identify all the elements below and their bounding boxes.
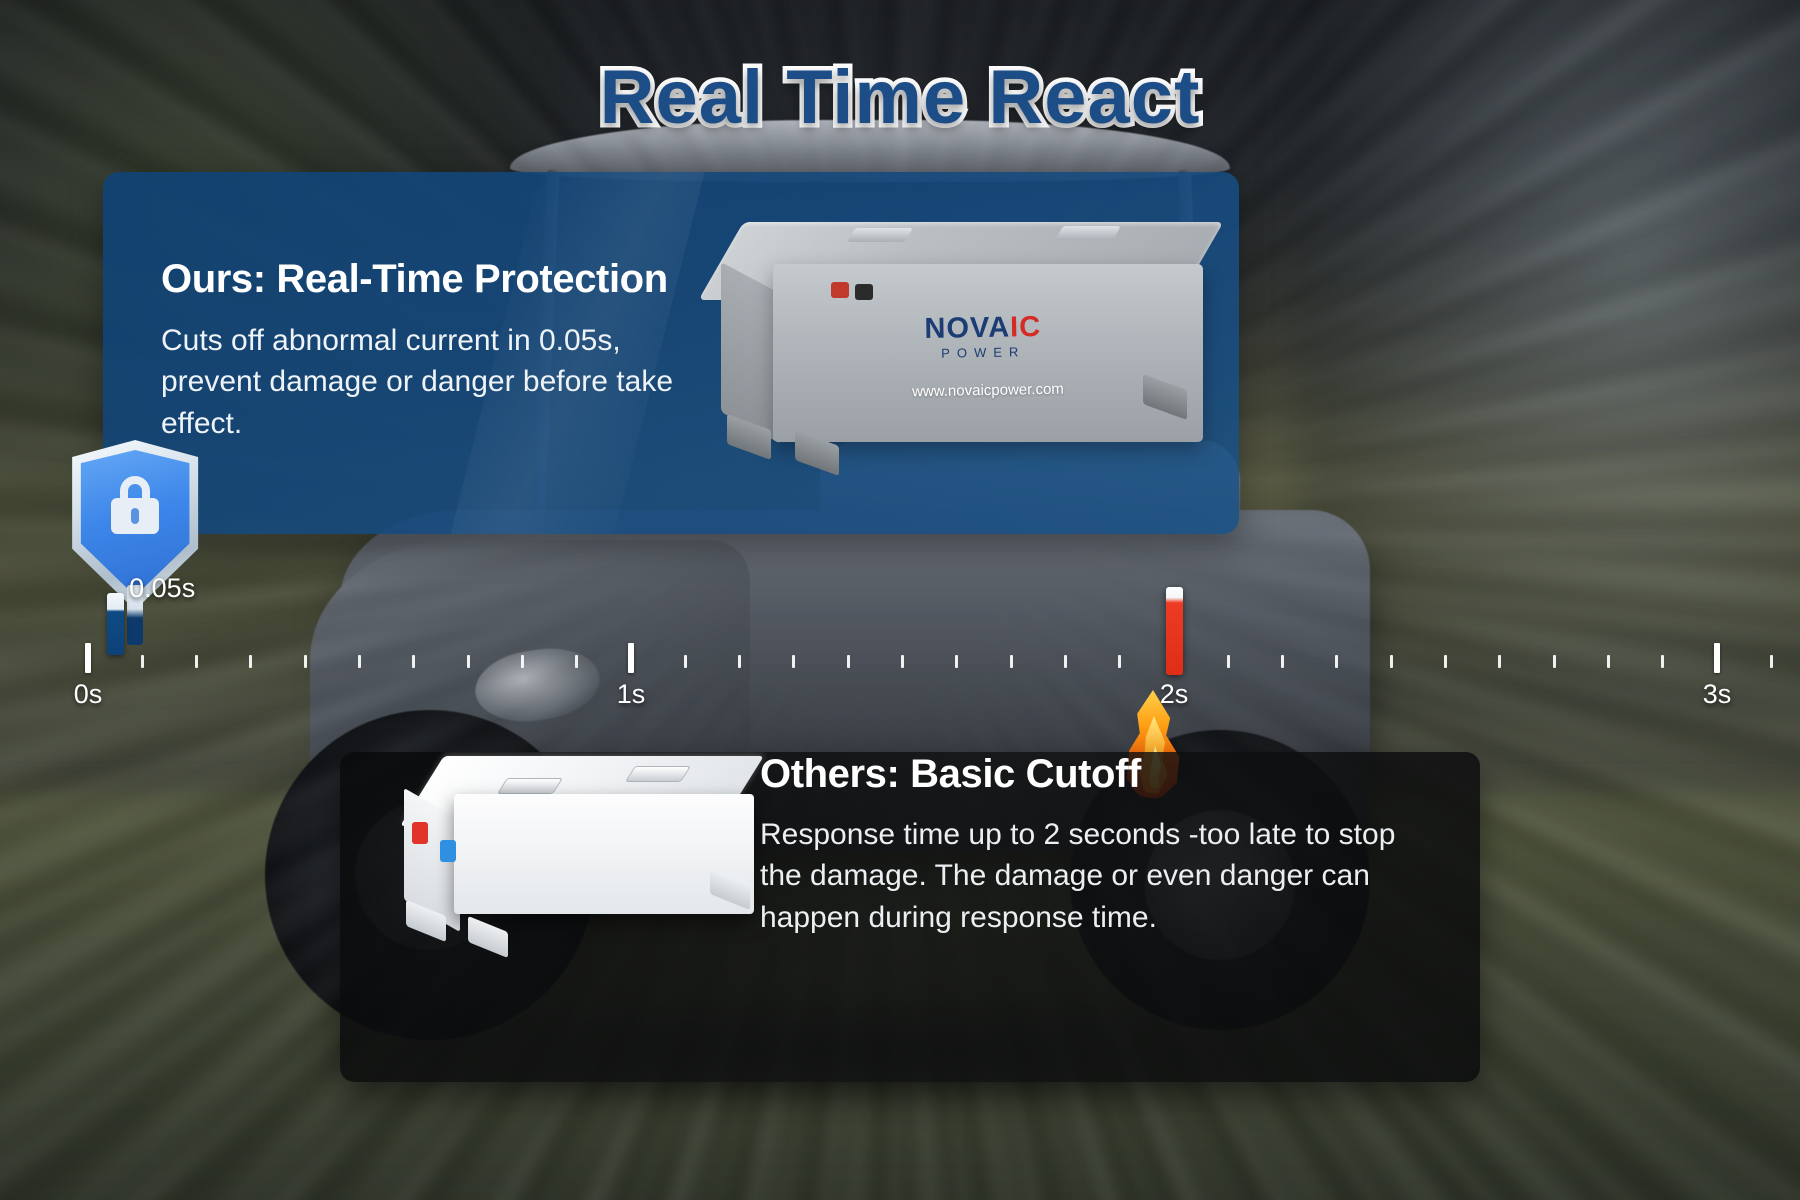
tick-minor	[738, 655, 741, 668]
tick-minor	[304, 655, 307, 668]
panel-bottom-heading: Others: Basic Cutoff	[760, 752, 1141, 797]
tick-minor	[1770, 655, 1773, 668]
tick-minor	[1227, 655, 1230, 668]
panel-top-body: Cuts off abnormal current in 0.05s, prev…	[161, 320, 701, 444]
logo-brand-accent: IC	[1010, 311, 1042, 344]
battery-positive-terminal	[831, 282, 849, 298]
panel-top-heading: Ours: Real-Time Protection	[161, 257, 668, 302]
tick-minor	[358, 655, 361, 668]
tick-minor	[521, 655, 524, 668]
tick-minor	[792, 655, 795, 668]
tick-label-0s: 0s	[74, 679, 103, 710]
competitor-battery-handle-left	[497, 778, 563, 794]
tick-minor	[1607, 655, 1610, 668]
tick-minor	[1335, 655, 1338, 668]
tick-label-1s: 1s	[617, 679, 646, 710]
novaic-battery-image: NOVAIC POWER www.novaicpower.com	[703, 222, 1223, 497]
timeline-ruler: 0.05s 0s1s2s3s	[0, 655, 1800, 675]
tick-major	[628, 643, 634, 673]
tick-minor	[1118, 655, 1121, 668]
tick-minor	[1390, 655, 1393, 668]
competitor-battery-image	[392, 756, 782, 956]
logo-brand-primary: NOVA	[924, 312, 1010, 345]
tick-minor	[412, 655, 415, 668]
competitor-negative-terminal	[440, 840, 456, 862]
battery-handle-left	[847, 228, 913, 242]
tick-minor	[684, 655, 687, 668]
tick-major	[85, 643, 91, 673]
tick-minor	[467, 655, 470, 668]
others-timeline-marker	[1166, 587, 1183, 675]
tick-minor	[195, 655, 198, 668]
panel-others-basic-cutoff: Others: Basic Cutoff Response time up to…	[340, 752, 1480, 1082]
tick-minor	[1064, 655, 1067, 668]
tick-minor	[1281, 655, 1284, 668]
competitor-battery-handle-right	[625, 766, 691, 782]
tick-major	[1714, 643, 1720, 673]
ours-marker-label: 0.05s	[129, 573, 195, 604]
battery-handle-right	[1055, 226, 1121, 240]
tick-minor	[1661, 655, 1664, 668]
tick-label-3s: 3s	[1703, 679, 1732, 710]
panel-ours-realtime-protection: Ours: Real-Time Protection Cuts off abno…	[103, 172, 1239, 534]
tick-minor	[1553, 655, 1556, 668]
competitor-mount-foot-2	[468, 916, 508, 958]
competitor-battery-side-face	[454, 794, 754, 914]
tick-minor	[847, 655, 850, 668]
novaic-logo: NOVAIC POWER	[853, 312, 1114, 363]
lock-keyhole-icon	[131, 508, 139, 524]
tick-minor	[955, 655, 958, 668]
tick-minor	[249, 655, 252, 668]
page-title: Real Time React	[0, 54, 1800, 141]
tick-minor	[575, 655, 578, 668]
battery-negative-terminal	[855, 284, 873, 300]
tick-minor	[1444, 655, 1447, 668]
panel-bottom-body: Response time up to 2 seconds -too late …	[760, 814, 1420, 938]
competitor-positive-terminal	[412, 822, 428, 844]
tick-minor	[141, 655, 144, 668]
tick-minor	[1010, 655, 1013, 668]
tick-minor	[1498, 655, 1501, 668]
tick-minor	[901, 655, 904, 668]
ours-timeline-marker	[107, 593, 124, 655]
